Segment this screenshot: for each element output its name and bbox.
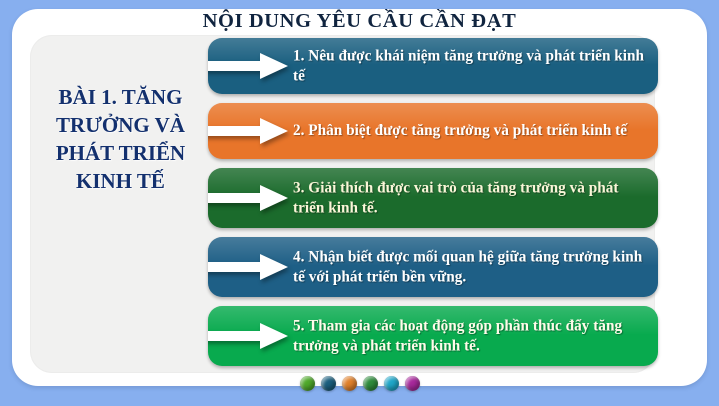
- objective-row-5[interactable]: 5. Tham gia các hoạt động góp phần thúc …: [208, 306, 658, 366]
- objective-text: 3. Giải thích được vai trò của tăng trưở…: [293, 178, 648, 217]
- objective-text: 4. Nhận biết được mối quan hệ giữa tăng …: [293, 247, 648, 286]
- footer-dot: [342, 376, 357, 391]
- arrow-right-icon: [208, 252, 288, 282]
- footer-dot: [363, 376, 378, 391]
- objective-text: 5. Tham gia các hoạt động góp phần thúc …: [293, 316, 648, 355]
- objective-row-4[interactable]: 4. Nhận biết được mối quan hệ giữa tăng …: [208, 237, 658, 297]
- footer-dot: [384, 376, 399, 391]
- objectives-list: 1. Nêu được khái niệm tăng trưởng và phá…: [208, 38, 658, 375]
- objective-row-1[interactable]: 1. Nêu được khái niệm tăng trưởng và phá…: [208, 38, 658, 94]
- footer-dots: [0, 376, 719, 391]
- arrow-right-icon: [208, 183, 288, 213]
- arrow-right-icon: [208, 321, 288, 351]
- footer-dot: [300, 376, 315, 391]
- footer-dot: [321, 376, 336, 391]
- objective-text: 1. Nêu được khái niệm tăng trưởng và phá…: [293, 46, 648, 85]
- objective-text: 2. Phân biệt được tăng trưởng và phát tr…: [293, 121, 648, 141]
- slide-canvas: NỘI DUNG YÊU CẦU CẦN ĐẠT BÀI 1. TĂNG TRƯ…: [0, 0, 719, 406]
- arrow-right-icon: [208, 51, 288, 81]
- objective-row-3[interactable]: 3. Giải thích được vai trò của tăng trưở…: [208, 168, 658, 228]
- footer-dot: [405, 376, 420, 391]
- lesson-title: BÀI 1. TĂNG TRƯỞNG VÀ PHÁT TRIỂN KINH TẾ: [38, 84, 203, 196]
- objective-row-2[interactable]: 2. Phân biệt được tăng trưởng và phát tr…: [208, 103, 658, 159]
- arrow-right-icon: [208, 116, 288, 146]
- page-title: NỘI DUNG YÊU CẦU CẦN ĐẠT: [0, 10, 719, 33]
